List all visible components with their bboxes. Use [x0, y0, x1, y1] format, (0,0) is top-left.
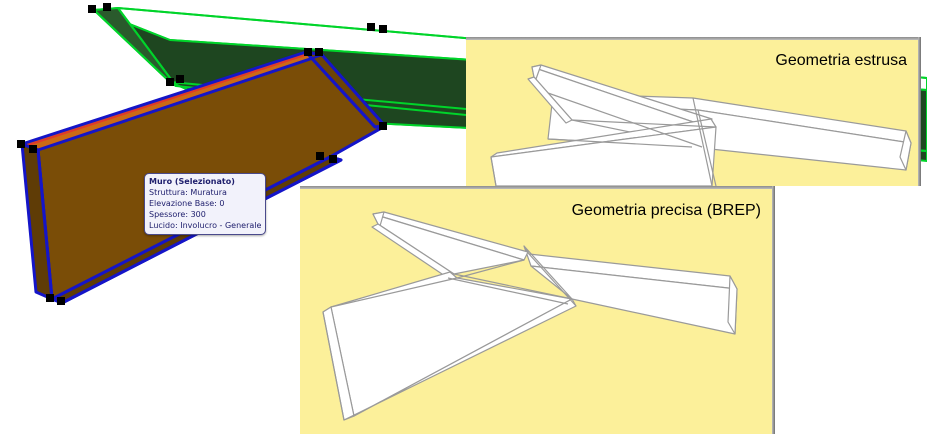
- wireframe-brep: [300, 186, 775, 434]
- tooltip-row-elevazione: Elevazione Base: 0: [149, 198, 261, 209]
- callout-brep-label: Geometria precisa (BREP): [572, 202, 761, 220]
- tooltip-title: Muro (Selezionato): [149, 176, 261, 187]
- selection-handle[interactable]: [316, 152, 324, 160]
- callout-geometria-estrusa[interactable]: Geometria estrusa: [466, 37, 921, 186]
- selection-handle[interactable]: [46, 294, 54, 302]
- tooltip-row-struttura: Struttura: Muratura: [149, 187, 261, 198]
- selection-handle[interactable]: [367, 23, 375, 31]
- selection-handle[interactable]: [166, 78, 174, 86]
- callout-extruded-label: Geometria estrusa: [775, 52, 907, 70]
- selection-handle[interactable]: [329, 155, 337, 163]
- selection-handle[interactable]: [315, 48, 323, 56]
- brep-slab-long-endcap: [728, 276, 737, 334]
- selection-handle[interactable]: [103, 3, 111, 11]
- selection-handle[interactable]: [17, 140, 25, 148]
- selection-handle[interactable]: [88, 5, 96, 13]
- tooltip-row-lucido: Lucido: Involucro - Generale: [149, 220, 261, 231]
- selection-handle[interactable]: [176, 75, 184, 83]
- tooltip-row-spessore: Spessore: 300: [149, 209, 261, 220]
- selection-handle[interactable]: [304, 48, 312, 56]
- selection-handle[interactable]: [57, 297, 65, 305]
- selection-handle[interactable]: [379, 122, 387, 130]
- selection-handle[interactable]: [379, 25, 387, 33]
- brep-wing-face: [331, 278, 572, 416]
- callout-geometria-precisa-brep[interactable]: Geometria precisa (BREP): [300, 186, 775, 434]
- selection-handle[interactable]: [29, 145, 37, 153]
- wall-info-tooltip: Muro (Selezionato) Struttura: Muratura E…: [144, 173, 266, 235]
- screenshot-canvas: Muro (Selezionato) Struttura: Muratura E…: [0, 0, 927, 434]
